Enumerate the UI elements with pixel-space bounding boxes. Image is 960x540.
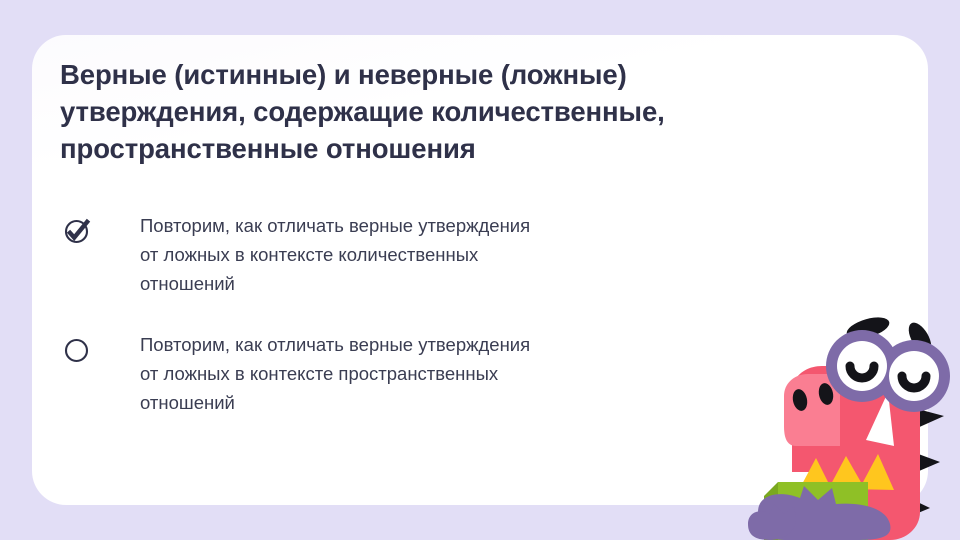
slide: Верные (истинные) и неверные (ложные) ут… [0, 0, 960, 540]
list-item-label: Повторим, как отличать верные утверждени… [140, 211, 760, 298]
page-title: Верные (истинные) и неверные (ложные) ут… [60, 56, 890, 167]
bullet-list: Повторим, как отличать верные утверждени… [60, 211, 760, 449]
content-card: Верные (истинные) и неверные (ложные) ут… [32, 35, 928, 505]
list-item[interactable]: Повторим, как отличать верные утверждени… [60, 330, 760, 417]
mascot-hand [748, 504, 796, 540]
list-item[interactable]: Повторим, как отличать верные утверждени… [60, 211, 760, 298]
empty-circle-icon[interactable] [62, 335, 92, 365]
list-item-label: Повторим, как отличать верные утверждени… [140, 330, 760, 417]
check-circle-icon[interactable] [62, 216, 92, 246]
